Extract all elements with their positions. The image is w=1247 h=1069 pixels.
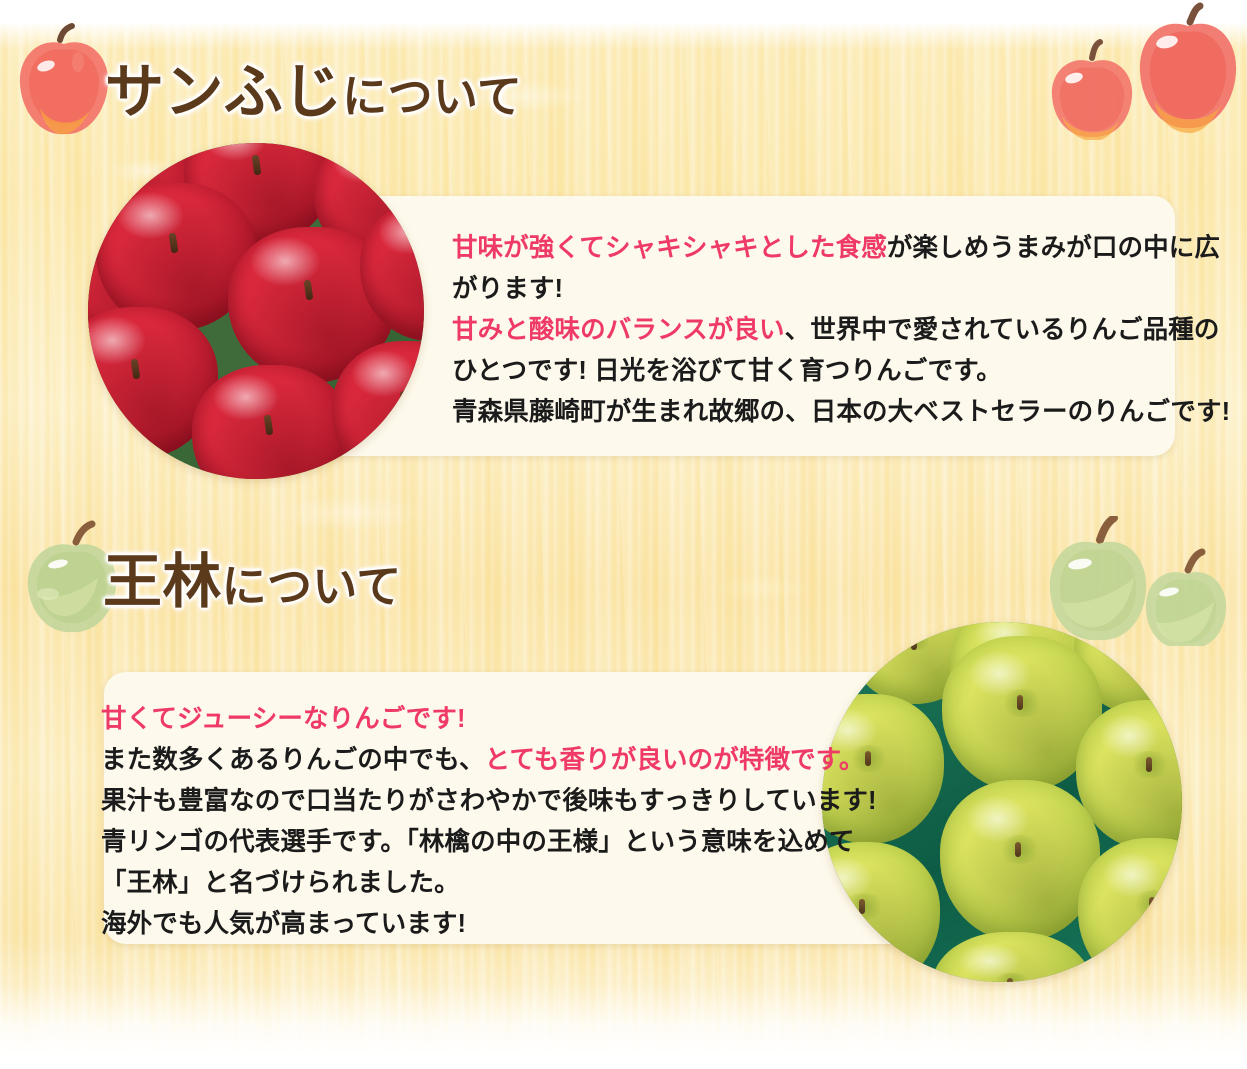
heading-tail: について [222, 560, 402, 613]
copy-line: 甘味が強くてシャキシャキとした食感が楽しめうまみが口の中に広 [452, 228, 1230, 269]
page-root: サンふじについて 甘味が強くてシャキシャキとした食感が楽しめうまみが口の中に広 … [0, 0, 1247, 1069]
copy-line: 「王林」と名づけられました。 [101, 863, 877, 904]
red-apple-pair-icon [1040, 0, 1240, 140]
sunfuji-apple-photo [88, 143, 424, 479]
copy-line: 甘くてジューシーなりんごです! [101, 699, 877, 740]
orin-description: 甘くてジューシーなりんごです! また数多くあるりんごの中でも、とても香りが良いの… [101, 699, 877, 945]
copy-line: 海外でも人気が高まっています! [101, 904, 877, 945]
section-heading-orin: 王林について [103, 552, 402, 611]
heading-lead: 王林 [103, 547, 222, 616]
section-heading-sunfuji: サンふじについて [105, 62, 522, 121]
red-apple-icon [10, 22, 118, 142]
copy-line: また数多くあるりんごの中でも、とても香りが良いのが特徴です。 [101, 740, 877, 781]
copy-line: 青リンゴの代表選手です。「林檎の中の王様」という意味を込めて [101, 822, 877, 863]
heading-lead: サンふじ [105, 57, 342, 126]
sunfuji-description: 甘味が強くてシャキシャキとした食感が楽しめうまみが口の中に広 がります! 甘みと… [452, 228, 1230, 433]
copy-line: 青森県藤崎町が生まれ故郷の、日本の大ベストセラーのりんごです! [452, 392, 1230, 433]
copy-line: がります! [452, 269, 1230, 310]
copy-line: 果汁も豊富なので口当たりがさわやかで後味もすっきりしています! [101, 781, 877, 822]
copy-line: 甘みと酸味のバランスが良い、世界中で愛されているりんご品種の [452, 310, 1230, 351]
heading-tail: について [342, 70, 522, 123]
copy-line: ひとつです! 日光を浴びて甘く育つりんごです。 [452, 351, 1230, 392]
